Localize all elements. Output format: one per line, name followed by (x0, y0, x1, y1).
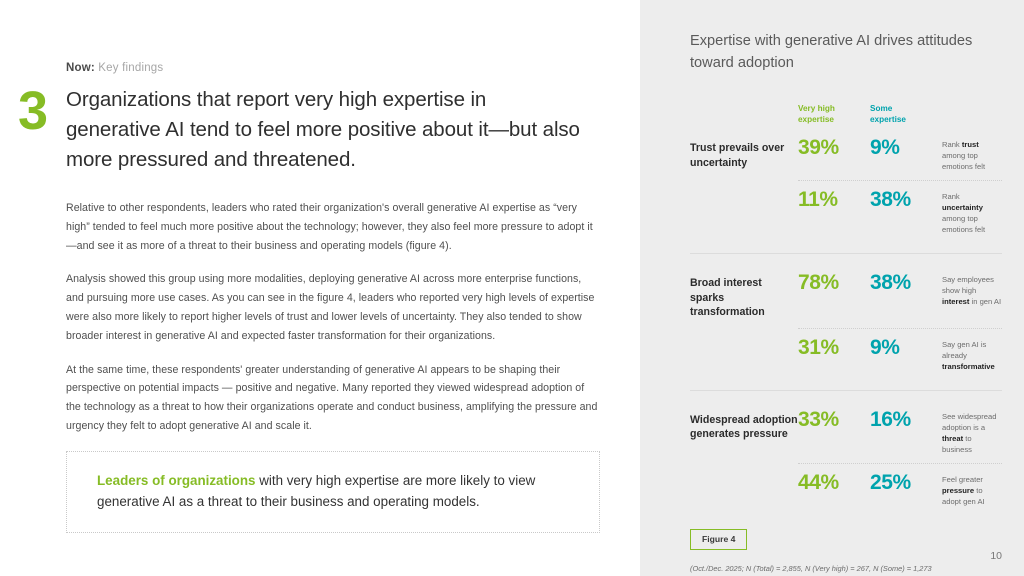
figure-title: Expertise with generative AI drives atti… (690, 30, 990, 74)
figure-group: Broad interest sparks transformation78%3… (690, 253, 1002, 380)
left-content-panel: Now: Key findings 3 Organizations that r… (0, 0, 640, 576)
figure-row-note: Rank uncertainty among top emotions felt (942, 187, 1002, 235)
figure-row-label: Broad interest sparks transformation (690, 270, 798, 320)
figure-row-label: Trust prevails over uncertainty (690, 135, 798, 170)
figure-row-note: Say employees show high interest in gen … (942, 270, 1002, 307)
page-number: 10 (990, 550, 1002, 562)
figure-row-note: Rank trust among top emotions felt (942, 135, 1002, 172)
headline-row: 3 Organizations that report very high ex… (18, 85, 600, 175)
figure-row: 44%25%Feel greater pressure to adopt gen… (798, 463, 1002, 515)
figure-badge: Figure 4 (690, 529, 747, 550)
figure-row-label: Widespread adoption generates pressure (690, 407, 798, 442)
figure-row: 11%38%Rank uncertainty among top emotion… (798, 180, 1002, 243)
value-some: 16% (870, 407, 922, 433)
figure-groups: Trust prevails over uncertainty39%9%Rank… (690, 129, 1002, 515)
value-some: 9% (870, 135, 922, 161)
figure-row: Broad interest sparks transformation78%3… (690, 264, 1002, 328)
figure-row: Widespread adoption generates pressure33… (690, 401, 1002, 463)
value-some: 38% (870, 187, 922, 213)
value-very-high: 33% (798, 407, 850, 433)
value-very-high: 11% (798, 187, 850, 213)
figure-row: Trust prevails over uncertainty39%9%Rank… (690, 129, 1002, 180)
paragraph-3: At the same time, these respondents' gre… (66, 361, 600, 436)
body-copy: Relative to other respondents, leaders w… (66, 199, 600, 436)
value-some: 25% (870, 470, 922, 496)
value-very-high: 44% (798, 470, 850, 496)
column-header-very-high: Very high expertise (798, 104, 850, 125)
column-headers: Very high expertise Some expertise (798, 104, 1002, 125)
column-header-some: Some expertise (870, 104, 922, 125)
paragraph-1: Relative to other respondents, leaders w… (66, 199, 600, 255)
figure-row-note: Feel greater pressure to adopt gen AI (942, 470, 1002, 507)
figure-panel: Expertise with generative AI drives atti… (640, 0, 1024, 576)
callout-lead: Leaders of organizations (97, 473, 255, 488)
value-very-high: 78% (798, 270, 850, 296)
page-title: Organizations that report very high expe… (66, 85, 586, 175)
eyebrow-text: Key findings (95, 62, 163, 74)
callout-box: Leaders of organizations with very high … (66, 451, 600, 533)
figure-row-note: See widespread adoption is a threat to b… (942, 407, 1002, 455)
figure-source: (Oct./Dec. 2025; N (Total) = 2,855, N (V… (690, 563, 1002, 574)
value-very-high: 39% (798, 135, 850, 161)
value-some: 9% (870, 335, 922, 361)
value-very-high: 31% (798, 335, 850, 361)
slide: Now: Key findings 3 Organizations that r… (0, 0, 1024, 576)
figure-row-note: Say gen AI is already transformative (942, 335, 1002, 372)
eyebrow-label: Now: (66, 62, 95, 74)
figure-group: Trust prevails over uncertainty39%9%Rank… (690, 129, 1002, 243)
value-some: 38% (870, 270, 922, 296)
paragraph-2: Analysis showed this group using more mo… (66, 270, 600, 345)
callout-text: Leaders of organizations with very high … (97, 470, 577, 512)
eyebrow: Now: Key findings (66, 62, 600, 74)
figure-row: 31%9%Say gen AI is already transformativ… (798, 328, 1002, 380)
section-number: 3 (18, 89, 66, 133)
figure-group: Widespread adoption generates pressure33… (690, 390, 1002, 515)
